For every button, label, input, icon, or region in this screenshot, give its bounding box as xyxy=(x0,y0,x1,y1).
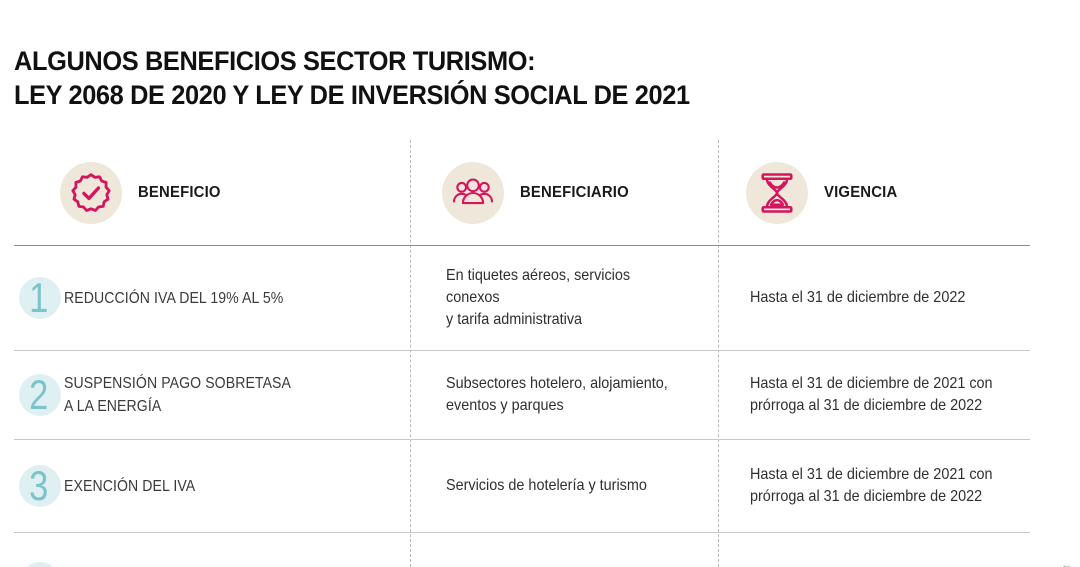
row-number: 1 xyxy=(14,246,64,350)
beneficiary-cell: Subsectores hotelero, alojamiento, event… xyxy=(446,351,710,439)
benefits-table: BENEFICIO BE xyxy=(0,140,1080,567)
validity-cell: Hasta el 31 de diciembre de 2021 con pró… xyxy=(750,440,1030,532)
validity-line: Hasta el 31 de diciembre de 2022 xyxy=(750,287,1002,309)
benefit-cell: SUSPENSIÓN PAGO SOBRETASA A LA ENERGÍA xyxy=(64,351,404,439)
benefit-cell: REDUCCIÓN DEL IMPUESTO xyxy=(64,533,404,567)
row-number: 2 xyxy=(14,351,64,439)
table-row: 2 SUSPENSIÓN PAGO SOBRETASA A LA ENERGÍA… xyxy=(0,351,1080,439)
table-row: 1 REDUCCIÓN IVA DEL 19% AL 5% En tiquete… xyxy=(0,246,1080,350)
column-header-beneficio: BENEFICIO xyxy=(60,140,227,245)
validity-line: prórroga al 31 de diciembre de 2022 xyxy=(750,395,1002,417)
column-header-vigencia: VIGENCIA xyxy=(746,140,903,245)
row-number-text: 2 xyxy=(29,374,48,416)
benefit-line: EXENCIÓN DEL IVA xyxy=(64,475,363,498)
row-number: 3 xyxy=(14,440,64,532)
benefit-cell: EXENCIÓN DEL IVA xyxy=(64,440,404,532)
verified-badge-icon xyxy=(60,162,122,224)
column-header-label: BENEFICIARIO xyxy=(520,184,629,202)
beneficiary-line: eventos y parques xyxy=(446,395,684,417)
table-row: 3 EXENCIÓN DEL IVA Servicios de hotelerí… xyxy=(0,440,1080,532)
validity-line: Hasta el 31 de diciembre de 2021 con xyxy=(750,373,1002,395)
column-header-beneficiario: BENEFICIARIO xyxy=(442,140,637,245)
beneficiary-line: y tarifa administrativa xyxy=(446,309,684,331)
row-number: 4 xyxy=(14,533,64,567)
page-title: ALGUNOS BENEFICIOS SECTOR TURISMO: LEY 2… xyxy=(14,44,1014,112)
title-line-1: ALGUNOS BENEFICIOS SECTOR TURISMO: xyxy=(14,44,954,78)
beneficiary-cell: Servicios de hotelería y turismo xyxy=(446,440,710,532)
column-header-label: BENEFICIO xyxy=(138,184,221,202)
beneficiary-cell: En tiquetes aéreos, servicios conexos y … xyxy=(446,246,710,350)
benefit-line: REDUCCIÓN IVA DEL 19% AL 5% xyxy=(64,287,363,310)
infographic-page: ALGUNOS BENEFICIOS SECTOR TURISMO: LEY 2… xyxy=(0,0,1080,567)
people-group-icon xyxy=(442,162,504,224)
title-line-2: LEY 2068 DE 2020 Y LEY DE INVERSIÓN SOCI… xyxy=(14,78,954,112)
table-row: 4 REDUCCIÓN DEL IMPUESTO xyxy=(0,533,1080,567)
validity-line: prórroga al 31 de diciembre de 2022 xyxy=(750,486,1002,508)
benefit-line: SUSPENSIÓN PAGO SOBRETASA xyxy=(64,372,363,395)
validity-cell: Hasta el 31 de diciembre de 2022 xyxy=(750,246,1030,350)
row-number-text: 3 xyxy=(29,465,48,507)
column-header-label: VIGENCIA xyxy=(824,184,897,202)
benefit-cell: REDUCCIÓN IVA DEL 19% AL 5% xyxy=(64,246,404,350)
beneficiary-line: Subsectores hotelero, alojamiento, xyxy=(446,373,684,395)
validity-cell: Hasta el 31 de diciembre de 2021 con pró… xyxy=(750,351,1030,439)
validity-line: Hasta el 31 de diciembre de 2021 con xyxy=(750,464,1002,486)
benefit-line: A LA ENERGÍA xyxy=(64,395,363,418)
row-number-text: 4 xyxy=(29,562,48,567)
beneficiary-line: En tiquetes aéreos, servicios conexos xyxy=(446,265,684,309)
beneficiary-line: Servicios de hotelería y turismo xyxy=(446,475,684,497)
row-number-text: 1 xyxy=(29,277,48,319)
hourglass-icon xyxy=(746,162,808,224)
